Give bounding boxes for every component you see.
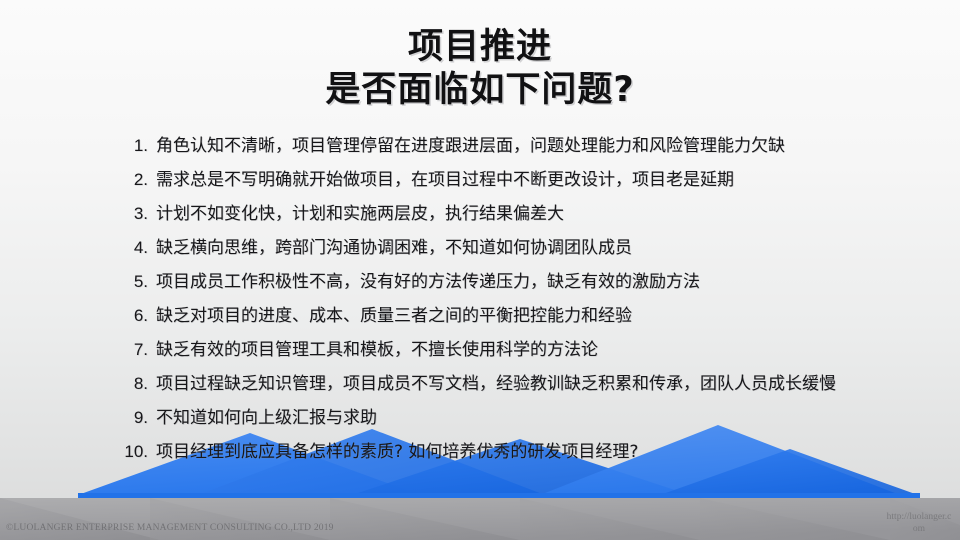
list-item-label: 项目成员工作积极性不高，没有好的方法传递压力，缺乏有效的激励方法 [156,267,700,292]
list-item: 7. 缺乏有效的项目管理工具和模板，不擅长使用科学的方法论 [0,335,960,369]
list-item-label: 项目过程缺乏知识管理，项目成员不写文档，经验教训缺乏积累和传承，团队人员成长缓慢 [156,369,836,394]
list-item-number: 5. [104,272,156,292]
list-item-number: 8. [104,374,156,394]
list-item: 8. 项目过程缺乏知识管理，项目成员不写文档，经验教训缺乏积累和传承，团队人员成… [0,369,960,403]
footer-copyright: ©LUOLANGER ENTERPRISE MANAGEMENT CONSULT… [6,523,334,533]
list-item: 4. 缺乏横向思维，跨部门沟通协调困难，不知道如何协调团队成员 [0,233,960,267]
list-item: 1. 角色认知不清晰，项目管理停留在进度跟进层面，问题处理能力和风险管理能力欠缺 [0,131,960,165]
list-item-number: 1. [104,136,156,156]
title-line-1: 项目推进 [0,26,960,69]
list-item: 3. 计划不如变化快，计划和实施两层皮，执行结果偏差大 [0,199,960,233]
wave-grey-band [0,498,960,540]
list-item-number: 6. [104,306,156,326]
list-item: 10. 项目经理到底应具备怎样的素质? 如何培养优秀的研发项目经理? [0,437,960,471]
list-item-number: 10. [104,442,156,462]
list-item-label: 计划不如变化快，计划和实施两层皮，执行结果偏差大 [156,199,564,224]
list-item: 2. 需求总是不写明确就开始做项目，在项目过程中不断更改设计，项目老是延期 [0,165,960,199]
list-item-label: 角色认知不清晰，项目管理停留在进度跟进层面，问题处理能力和风险管理能力欠缺 [156,131,785,156]
footer-website-url[interactable]: http://luolanger.com [886,512,952,536]
slide-title: 项目推进 是否面临如下问题? [0,26,960,111]
list-item: 5. 项目成员工作积极性不高，没有好的方法传递压力，缺乏有效的激励方法 [0,267,960,301]
list-item-number: 4. [104,238,156,258]
list-item-label: 需求总是不写明确就开始做项目，在项目过程中不断更改设计，项目老是延期 [156,165,734,190]
slide-canvas: 项目推进 是否面临如下问题? 1. 角色认知不清晰，项目管理停留在进度跟进层面，… [0,0,960,540]
title-line-2: 是否面临如下问题? [0,69,960,112]
list-item: 9. 不知道如何向上级汇报与求助 [0,403,960,437]
list-item-label: 项目经理到底应具备怎样的素质? 如何培养优秀的研发项目经理? [156,437,638,462]
list-item-label: 缺乏横向思维，跨部门沟通协调困难，不知道如何协调团队成员 [156,233,632,258]
list-item-number: 9. [104,408,156,428]
list-item: 6. 缺乏对项目的进度、成本、质量三者之间的平衡把控能力和经验 [0,301,960,335]
list-item-label: 不知道如何向上级汇报与求助 [156,403,377,428]
list-item-number: 2. [104,170,156,190]
list-item-label: 缺乏对项目的进度、成本、质量三者之间的平衡把控能力和经验 [156,301,632,326]
list-item-number: 3. [104,204,156,224]
problem-list: 1. 角色认知不清晰，项目管理停留在进度跟进层面，问题处理能力和风险管理能力欠缺… [0,131,960,471]
list-item-label: 缺乏有效的项目管理工具和模板，不擅长使用科学的方法论 [156,335,598,360]
list-item-number: 7. [104,340,156,360]
